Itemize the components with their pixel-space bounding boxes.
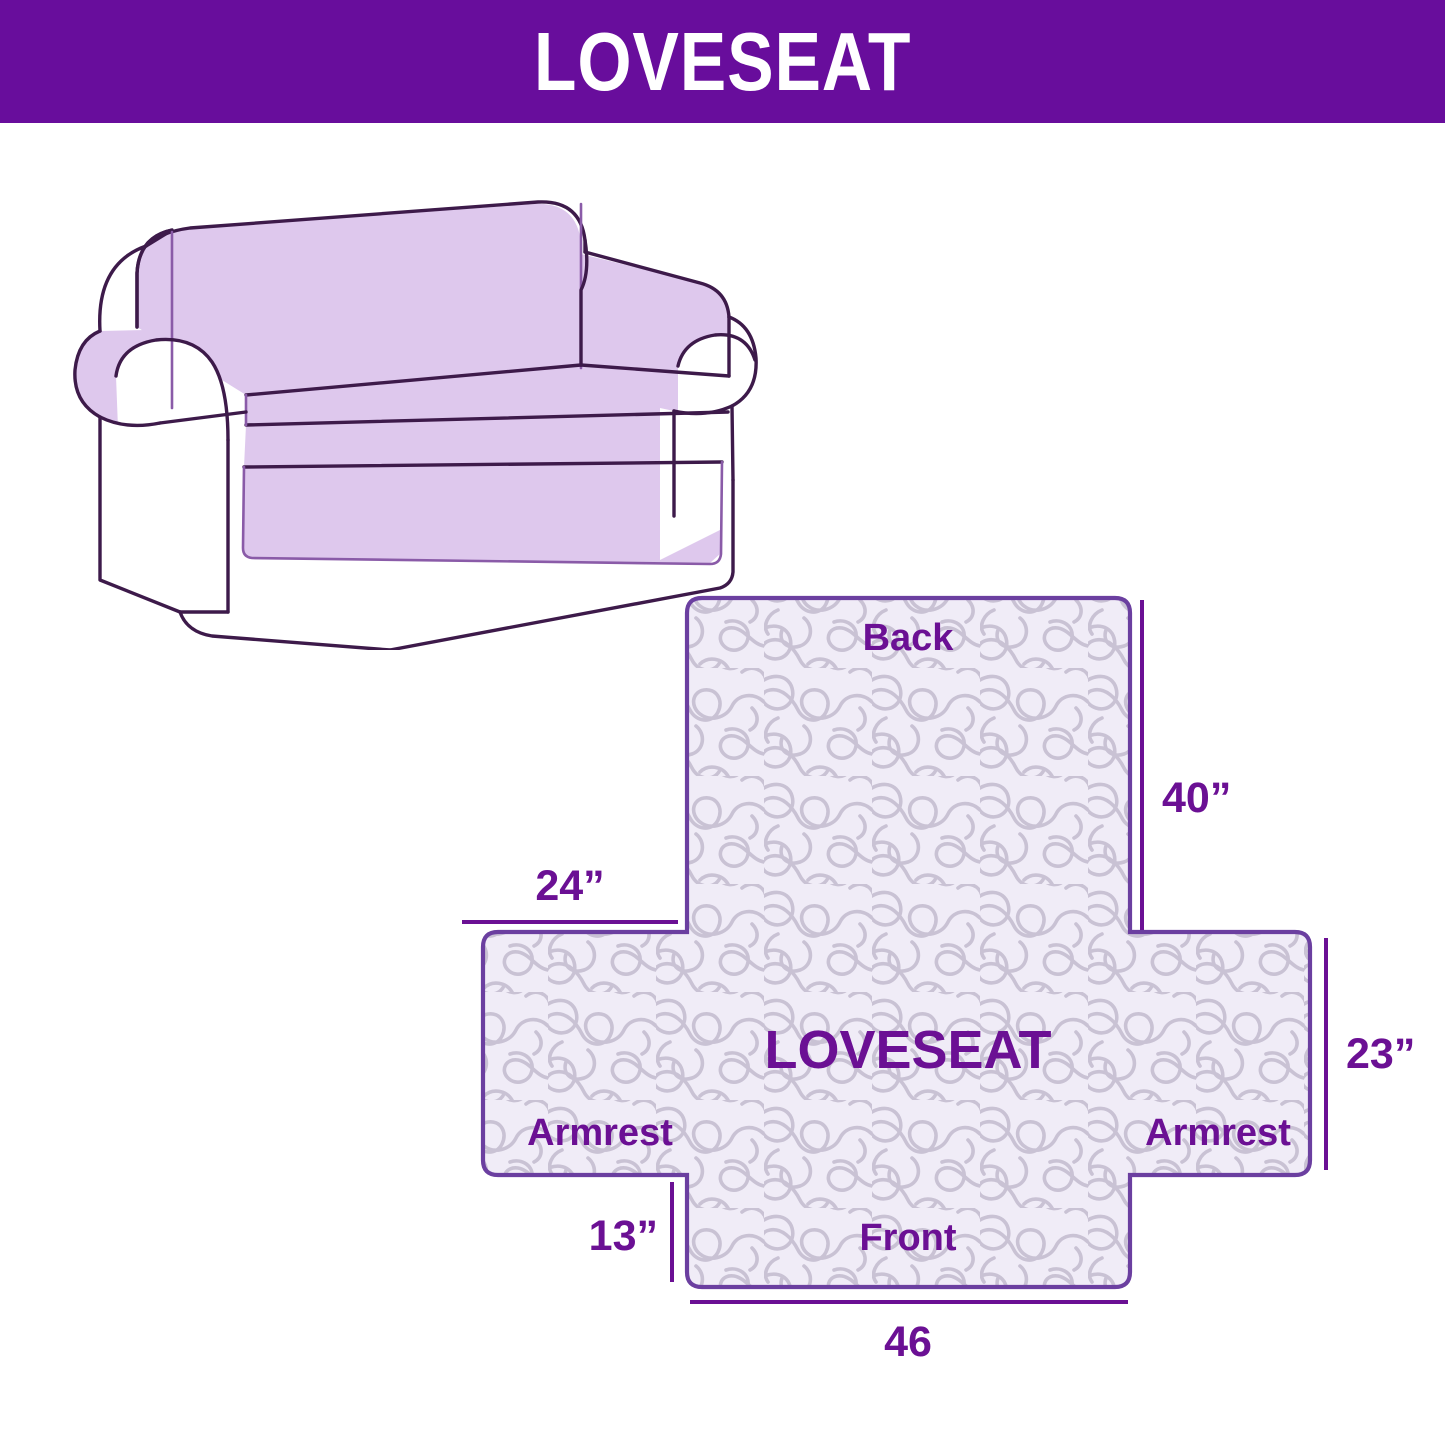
panel-label-front: Front (859, 1217, 956, 1259)
header-banner: LOVESEAT (0, 0, 1445, 123)
panel-label-back: Back (863, 617, 955, 659)
cross-diagram-svg: Back Armrest Armrest Front LOVESEAT 40” … (440, 560, 1445, 1420)
slipcover-flat-layout-diagram: Back Armrest Armrest Front LOVESEAT 40” … (440, 560, 1445, 1420)
sofa-front-skirt-fill (243, 462, 722, 563)
dimension-label-front-width: 46 (884, 1318, 932, 1366)
dimension-label-back-height: 40” (1162, 774, 1231, 822)
page-title: LOVESEAT (534, 20, 911, 103)
sofa-outline-right-side-edge (732, 406, 733, 480)
diagram-center-label: LOVESEAT (764, 1020, 1051, 1080)
panel-label-armrest-left: Armrest (527, 1112, 673, 1154)
dimension-label-front-height: 13” (589, 1212, 658, 1260)
dimension-label-back-width: 24” (535, 862, 604, 910)
dimension-label-armrest-height: 23” (1346, 1030, 1415, 1078)
slipcover-cross-panel (483, 598, 1310, 1287)
infographic-page: LOVESEAT .ln{fill:none;stroke:#3d1a4a;st… (0, 0, 1445, 1445)
panel-label-armrest-right: Armrest (1145, 1112, 1291, 1154)
